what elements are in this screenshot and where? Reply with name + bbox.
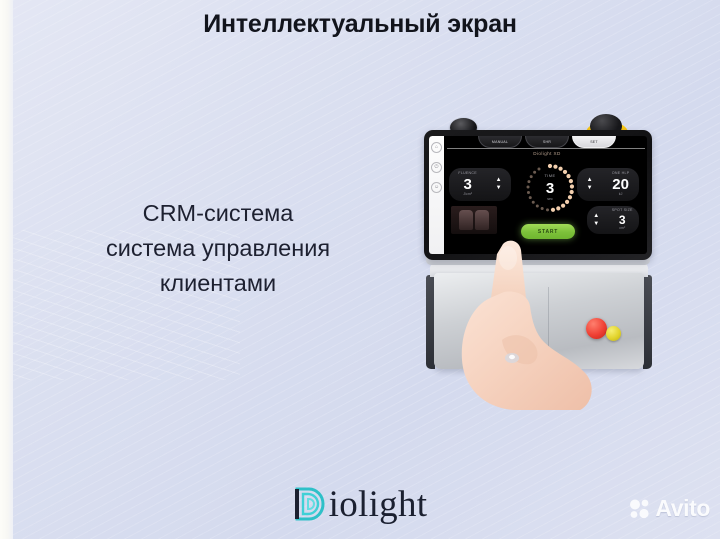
- chevron-down-icon[interactable]: ▼: [496, 186, 502, 191]
- chevron-down-icon[interactable]: ▼: [593, 222, 599, 227]
- base-leg-right: [643, 275, 652, 369]
- device-model-label: Diolight XD: [447, 151, 647, 156]
- preview-shape-right: [475, 210, 489, 230]
- tab-shr[interactable]: SHR: [525, 136, 569, 148]
- timer-unit: sec: [547, 198, 553, 202]
- avito-watermark: Avito: [629, 495, 710, 522]
- base-front-panel: [434, 273, 644, 369]
- avito-wordmark: Avito: [655, 495, 710, 522]
- touchscreen[interactable]: ⌂ ⏻ ☺ MANUAL SHR SET Diolight XD FLUENCE: [429, 136, 647, 254]
- fluence-value: 3: [458, 177, 477, 192]
- brand-logo: iolight: [0, 485, 720, 523]
- timer-dial[interactable]: TIME 3 sec: [522, 160, 578, 216]
- chevron-up-icon[interactable]: ▲: [587, 178, 593, 183]
- treatment-preview-thumbnail[interactable]: [451, 206, 497, 234]
- spot-size-stepper[interactable]: ▲ ▼: [593, 214, 599, 227]
- user-icon[interactable]: ☺: [431, 182, 442, 193]
- chevron-up-icon[interactable]: ▲: [496, 178, 502, 183]
- body-copy: CRM-система система управления клиентами: [58, 196, 378, 301]
- fluence-stepper[interactable]: ▲ ▼: [496, 178, 502, 191]
- timer-label: TIME: [544, 175, 555, 179]
- spot-size-readout: SPOT SIZE 3 cm²: [612, 209, 633, 230]
- home-icon[interactable]: ⌂: [431, 142, 442, 153]
- logo-wordmark: iolight: [329, 486, 428, 523]
- timer-value: 3: [546, 181, 554, 196]
- chevron-up-icon[interactable]: ▲: [593, 214, 599, 219]
- yellow-button-right[interactable]: [606, 326, 621, 341]
- body-copy-line-1: CRM-система: [58, 196, 378, 231]
- spot-size-card[interactable]: ▲ ▼ SPOT SIZE 3 cm²: [587, 206, 639, 234]
- power-icon[interactable]: ⏻: [431, 162, 442, 173]
- slide-canvas: Интеллектуальный экран CRM-система систе…: [0, 0, 720, 539]
- body-copy-line-3: клиентами: [58, 266, 378, 301]
- start-button[interactable]: START: [521, 224, 575, 239]
- energy-unit: kJ: [612, 193, 630, 197]
- tab-set[interactable]: SET: [572, 136, 616, 148]
- energy-card[interactable]: ▲ ▼ ONE HLP 20 kJ: [577, 168, 639, 201]
- left-edge-strip: [0, 0, 13, 539]
- tabs-underline: [447, 148, 645, 149]
- fluence-unit: J/cm²: [458, 193, 477, 197]
- device-photo: ⌂ ⏻ ☺ MANUAL SHR SET Diolight XD FLUENCE: [402, 118, 670, 403]
- panel-seam: [548, 287, 549, 373]
- logo-d-mark-icon: [293, 485, 327, 523]
- energy-stepper[interactable]: ▲ ▼: [587, 178, 593, 191]
- tab-manual[interactable]: MANUAL: [478, 136, 522, 148]
- timer-readout: TIME 3 sec: [522, 160, 578, 216]
- tablet-bezel: ⌂ ⏻ ☺ MANUAL SHR SET Diolight XD FLUENCE: [424, 130, 652, 260]
- device-base: [430, 263, 648, 373]
- fluence-card[interactable]: FLUENCE 3 J/cm² ▲ ▼: [449, 168, 511, 201]
- avito-logo-icon: [629, 498, 651, 520]
- energy-readout: ONE HLP 20 kJ: [612, 172, 630, 196]
- page-title: Интеллектуальный экран: [0, 10, 720, 39]
- chevron-down-icon[interactable]: ▼: [587, 186, 593, 191]
- energy-value: 20: [612, 177, 630, 192]
- spot-size-value: 3: [612, 214, 633, 226]
- red-button[interactable]: [586, 318, 607, 339]
- yellow-button-left[interactable]: [476, 323, 492, 339]
- fluence-readout: FLUENCE 3 J/cm²: [458, 172, 477, 196]
- body-copy-line-2: система управления: [58, 231, 378, 266]
- spot-size-unit: cm²: [612, 227, 633, 231]
- preview-shape-left: [459, 210, 473, 230]
- screen-side-rail: ⌂ ⏻ ☺: [429, 136, 444, 254]
